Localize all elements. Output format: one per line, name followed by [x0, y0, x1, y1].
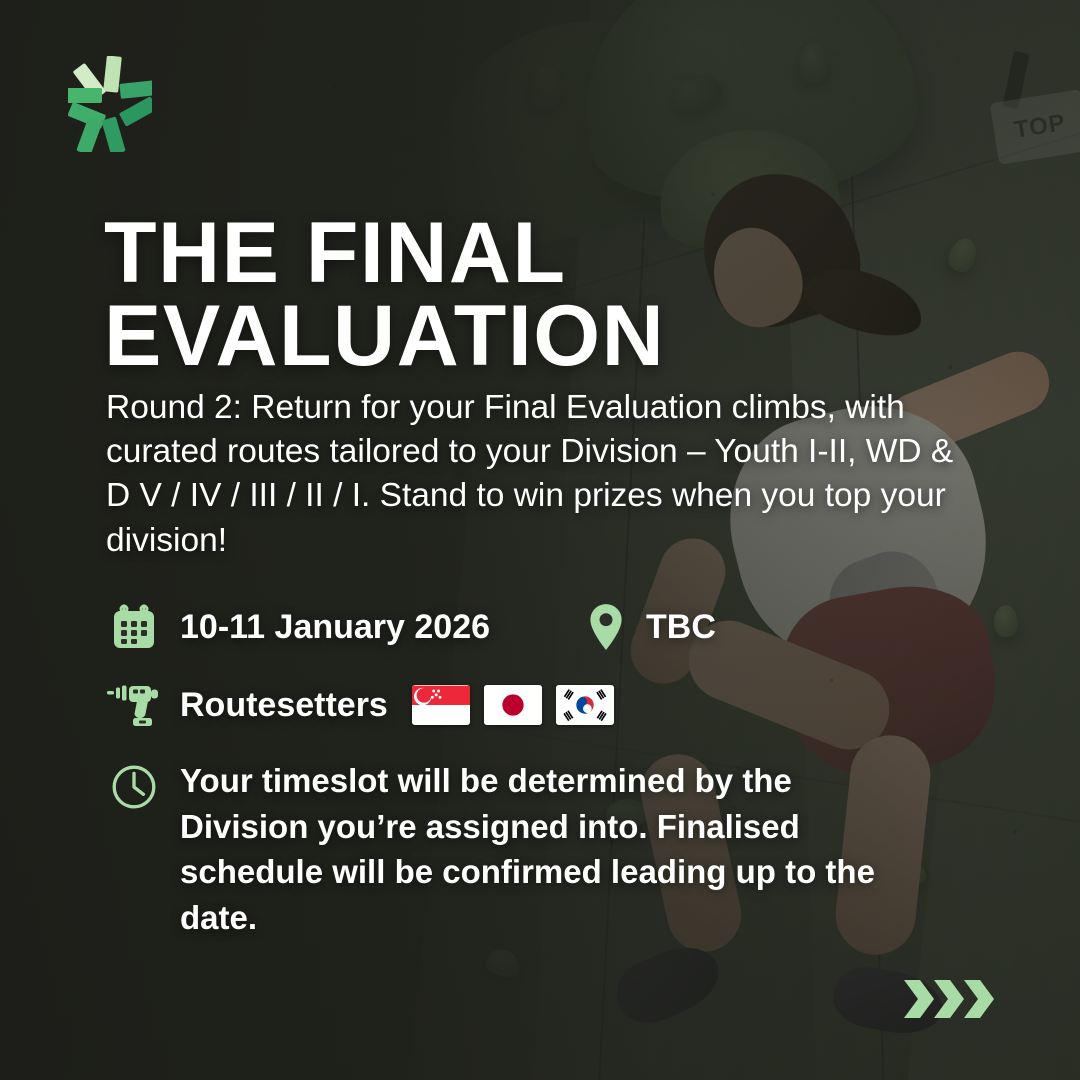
routesetter-flags: [412, 685, 614, 725]
event-date: 10-11 January 2026: [180, 608, 490, 647]
timeslot-row: Your timeslot will be determined by the …: [104, 758, 1004, 940]
headline-line-2: EVALUATION: [104, 295, 924, 378]
headline-line-1: THE FINAL: [104, 205, 567, 301]
date-venue-row: 10-11 January 2026 TBC: [104, 592, 1004, 662]
venue-name: TBC: [646, 608, 716, 647]
event-info-block: 10-11 January 2026 TBC: [104, 592, 1004, 940]
brand-logo: [68, 56, 152, 152]
routesetters-label: Routesetters: [180, 686, 388, 725]
poster-content: THE FINAL EVALUATION Round 2: Return for…: [0, 0, 1080, 1080]
flag-south-korea: [556, 685, 614, 725]
clock-icon: [104, 758, 164, 812]
triple-chevron-right-icon: [902, 976, 1002, 1022]
promo-poster: TOP: [0, 0, 1080, 1080]
timeslot-text: Your timeslot will be determined by the …: [180, 758, 880, 940]
venue-group: TBC: [582, 602, 716, 652]
page-title: THE FINAL EVALUATION: [104, 212, 924, 377]
power-drill-icon: [104, 680, 164, 730]
flag-singapore: [412, 685, 470, 725]
flag-japan: [484, 685, 542, 725]
description-text: Round 2: Return for your Final Evaluatio…: [106, 386, 986, 563]
map-pin-icon: [582, 602, 630, 652]
routesetters-row: Routesetters: [104, 668, 1004, 742]
calendar-icon: [104, 603, 164, 651]
